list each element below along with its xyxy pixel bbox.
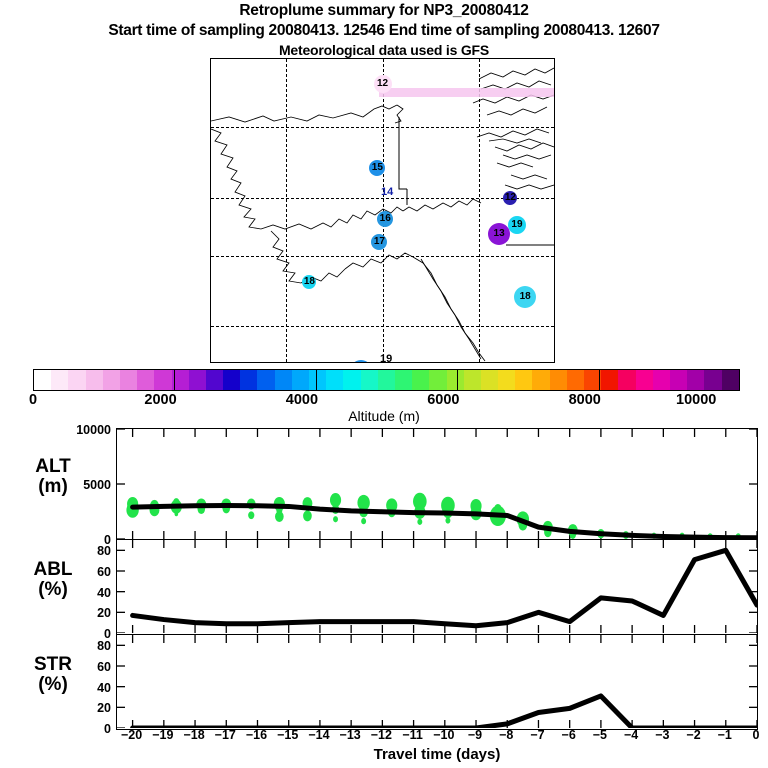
y-tick-label: 60 — [97, 565, 111, 579]
y-tick-label: 20 — [97, 701, 111, 715]
colorbar-separator — [599, 369, 600, 391]
x-tick-label: −13 — [340, 728, 361, 742]
map-gridline-h — [211, 326, 554, 327]
x-tick-label: −17 — [215, 728, 236, 742]
str-axis-label: STR (%) — [5, 655, 101, 695]
x-tick-label: −7 — [530, 728, 544, 742]
page-title: Retroplume summary for NP3_20080412 — [0, 2, 768, 20]
timeseries-plots: ALT (m) 0500010000 ABL (%) 020406080 STR… — [116, 428, 758, 730]
str-plot-area — [117, 635, 757, 728]
sampling-times: Start time of sampling 20080413. 12546 E… — [0, 22, 768, 40]
abl-panel[interactable]: ABL (%) 020406080 — [116, 540, 758, 635]
x-tick-label: −15 — [277, 728, 298, 742]
map-canvas: 121514161718121913181920 — [211, 59, 554, 362]
x-tick-label: −9 — [468, 728, 482, 742]
alt-plot-area — [117, 429, 757, 539]
y-tick-label: 5000 — [83, 478, 111, 492]
x-tick-label: −10 — [433, 728, 454, 742]
map-marker[interactable]: 13 — [488, 223, 510, 245]
map-gridline-v — [479, 59, 480, 362]
map-gridline-h — [211, 256, 554, 257]
map-marker-label[interactable]: 19 — [380, 354, 392, 362]
abl-axis-label: ABL (%) — [5, 560, 101, 600]
map-marker-label[interactable]: 14 — [381, 187, 393, 198]
map-marker[interactable]: 12 — [374, 75, 392, 93]
x-tick-label: −6 — [562, 728, 576, 742]
map-marker[interactable]: 18 — [302, 275, 316, 289]
y-tick-label: 10000 — [76, 423, 111, 437]
x-tick-label: −3 — [655, 728, 669, 742]
map-gridline-v — [286, 59, 287, 362]
x-tick-label: 0 — [753, 728, 760, 742]
colorbar-tick-label: 2000 — [144, 392, 176, 408]
y-tick-label: 80 — [97, 544, 111, 558]
alt-panel[interactable]: ALT (m) 0500010000 — [116, 428, 758, 540]
str-panel[interactable]: STR (%) 020406080 — [116, 635, 758, 730]
x-tick-label: −5 — [593, 728, 607, 742]
colorbar-tick-label: 8000 — [569, 392, 601, 408]
y-tick-label: 60 — [97, 660, 111, 674]
colorbar-separator — [174, 369, 175, 391]
y-tick-label: 20 — [97, 606, 111, 620]
colorbar-separator — [457, 369, 458, 391]
colorbar-tick-label: 6000 — [427, 392, 459, 408]
map-gridline-h — [211, 127, 554, 128]
retroplume-map[interactable]: 121514161718121913181920 — [210, 58, 555, 363]
altitude-colorbar[interactable] — [33, 369, 740, 391]
y-tick-label: 0 — [104, 722, 111, 736]
y-tick-label: 40 — [97, 681, 111, 695]
x-axis-tick-labels: −20−19−18−17−16−15−14−13−12−11−10−9−8−7−… — [116, 728, 758, 746]
colorbar-title: Altitude (m) — [0, 408, 768, 424]
x-tick-label: −18 — [183, 728, 204, 742]
colorbar-tick-label: 10000 — [676, 392, 716, 408]
map-marker[interactable]: 18 — [514, 286, 536, 308]
y-tick-label: 80 — [97, 639, 111, 653]
x-tick-label: −16 — [246, 728, 267, 742]
x-tick-label: −20 — [121, 728, 142, 742]
x-tick-label: −2 — [686, 728, 700, 742]
colorbar-separator — [316, 369, 317, 391]
met-data-caption: Meteorological data used is GFS — [0, 42, 768, 58]
y-tick-label: 40 — [97, 586, 111, 600]
x-tick-label: −14 — [308, 728, 329, 742]
colorbar-tick-label: 0 — [29, 392, 37, 408]
trajectory-band — [379, 88, 554, 97]
x-axis-title: Travel time (days) — [116, 746, 758, 763]
x-tick-label: −4 — [624, 728, 638, 742]
x-tick-label: −12 — [371, 728, 392, 742]
x-tick-label: −19 — [152, 728, 173, 742]
colorbar-tick-label: 4000 — [286, 392, 318, 408]
x-tick-label: −8 — [499, 728, 513, 742]
map-marker[interactable]: 12 — [503, 191, 517, 205]
abl-plot-area — [117, 540, 757, 633]
x-tick-label: −11 — [402, 728, 423, 742]
x-tick-label: −1 — [718, 728, 732, 742]
